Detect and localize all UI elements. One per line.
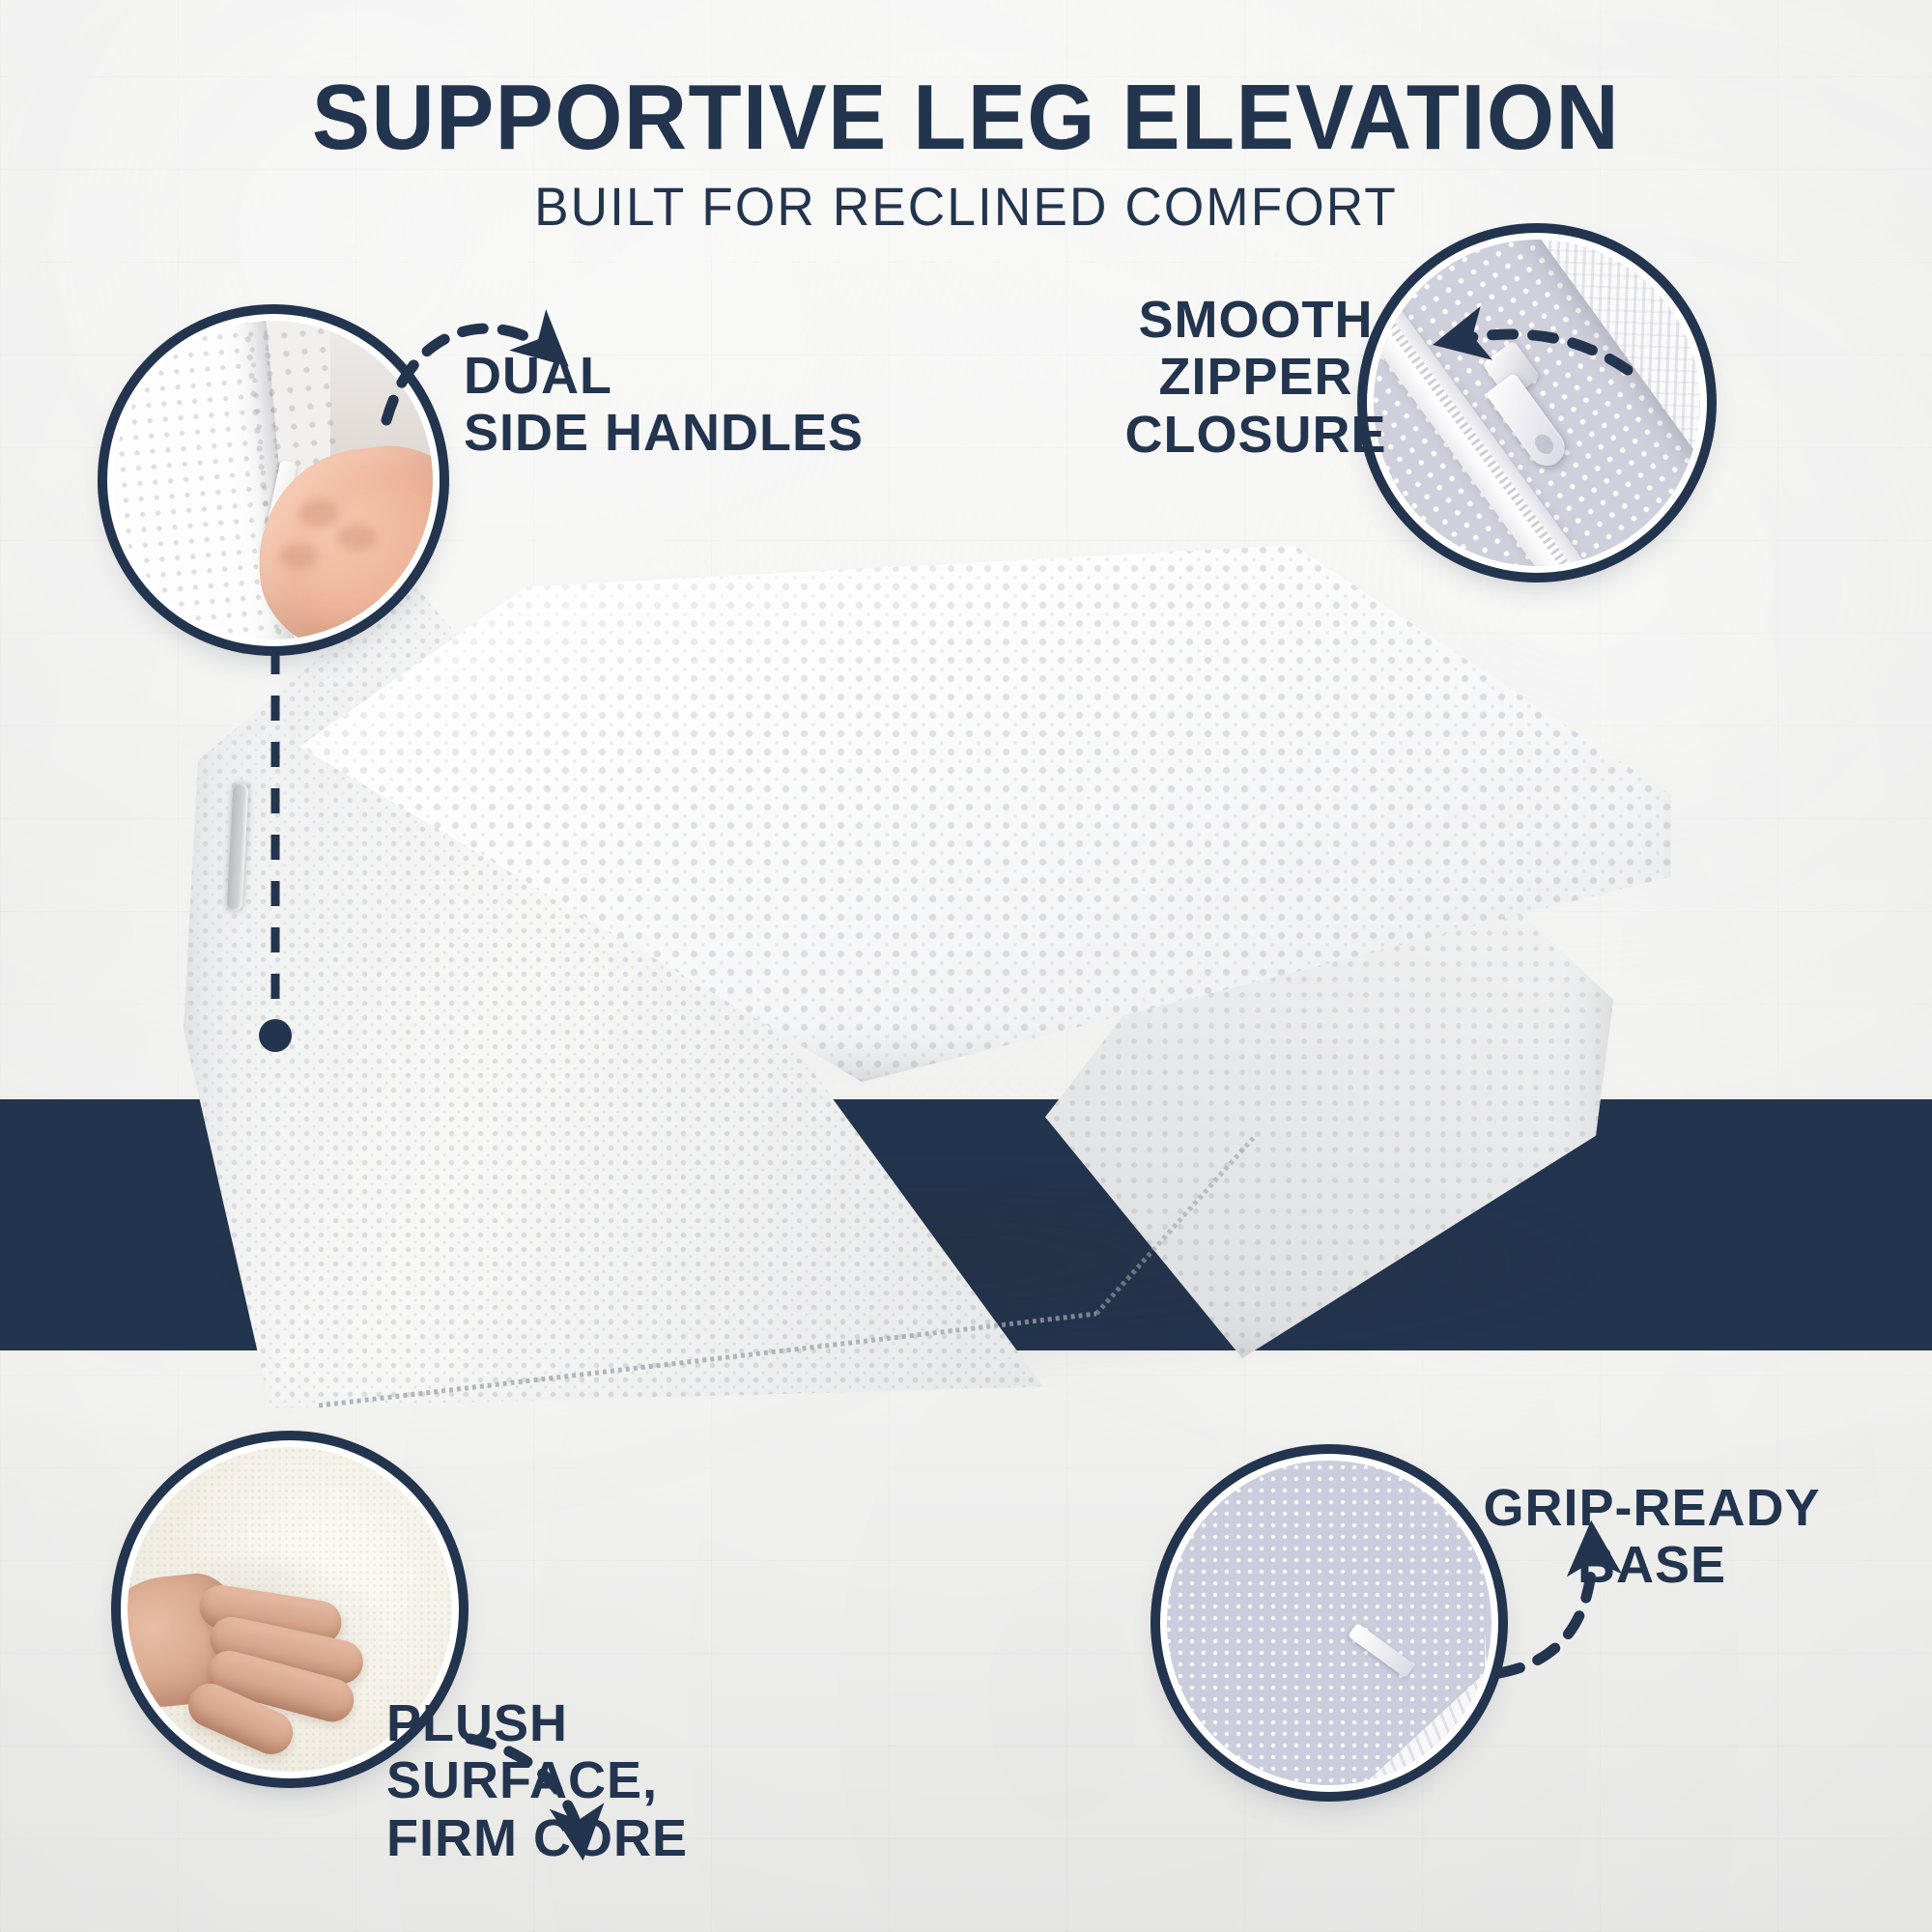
callout-photo-dual-side-handles[interactable] [114,321,433,639]
product-image-wedge-pillow [184,541,1690,1410]
header: SUPPORTIVE LEG ELEVATION BUILT FOR RECLI… [0,0,1932,234]
callout-label-smooth-zipper-closure: SMOOTH ZIPPER CLOSURE [1053,292,1459,464]
callout-photo-grip-ready-base[interactable] [1167,1461,1492,1785]
infographic-canvas: SUPPORTIVE LEG ELEVATION BUILT FOR RECLI… [0,0,1932,1932]
callout-label-dual-side-handles: DUAL SIDE HANDLES [464,348,869,463]
page-title: SUPPORTIVE LEG ELEVATION [58,0,1874,164]
callout-label-plush-surface-firm-core: PLUSH SURFACE, FIRM CORE [386,1695,850,1867]
callout-label-grip-ready-base: GRIP-READY BASE [1449,1480,1855,1595]
page-subtitle: BUILT FOR RECLINED COMFORT [48,164,1884,234]
brand-logo-mark [1555,657,1617,697]
